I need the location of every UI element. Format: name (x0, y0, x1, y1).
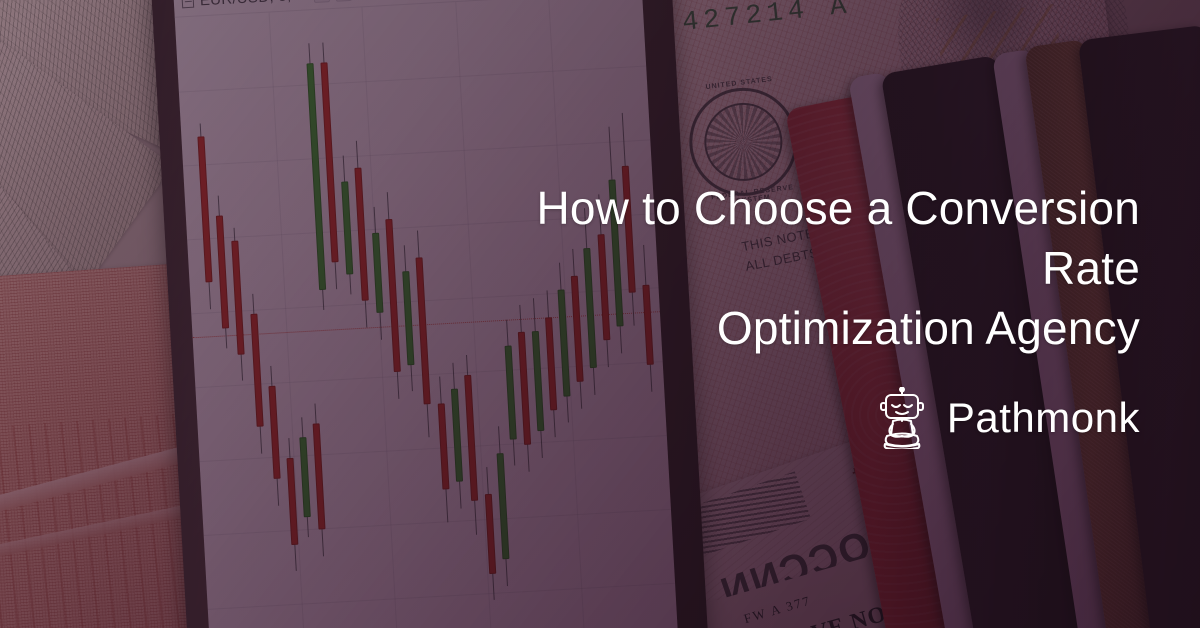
blog-share-banner: 427214 A UNITED STATES FEDERAL RESERVE S… (0, 0, 1200, 628)
banner-content: How to Choose a Conversion Rate Optimiza… (0, 0, 1200, 628)
brand-name: Pathmonk (947, 394, 1140, 442)
title-line-1: How to Choose a Conversion Rate (536, 182, 1140, 294)
page-title: How to Choose a Conversion Rate Optimiza… (440, 179, 1140, 358)
brand-logo: Pathmonk (875, 387, 1140, 449)
title-line-2: Optimization Agency (717, 302, 1140, 354)
meditating-robot-icon (875, 387, 929, 449)
